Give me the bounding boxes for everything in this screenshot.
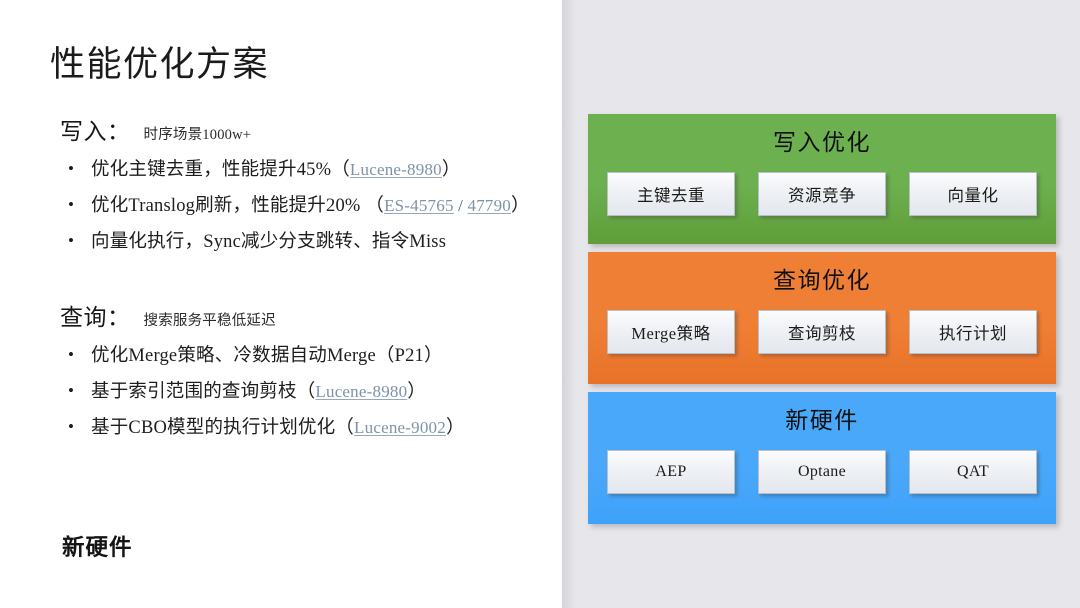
page-title: 性能优化方案 [50,45,269,85]
paren-open: （ [335,418,354,438]
section-subtitle: 搜索服务平稳低延迟 [144,313,276,329]
reference-link[interactable]: ES-45765 [384,196,454,215]
chip-item[interactable]: Optane [758,450,886,494]
bullet-text: 优化Merge策略、冷数据自动Merge（P21） [91,346,443,366]
diagram-panel-write[interactable]: 写入优化 主键去重 资源竞争 向量化 [588,114,1056,244]
section-heading: 写入： 时序场景1000w+ [60,112,560,146]
section-label: 写入： [60,119,131,144]
left-content-column: 性能优化方案 写入： 时序场景1000w+ 优化主键去重，性能提升45%（Luc… [0,0,562,608]
bullet-text: 优化Translog刷新，性能提升20% [91,196,361,216]
bullet-text: 优化主键去重，性能提升45% [91,160,331,180]
chip-item[interactable]: 向量化 [909,172,1037,216]
panel-title: 查询优化 [588,252,1056,293]
chip-item[interactable]: 主键去重 [607,172,735,216]
chip-item[interactable]: 查询剪枝 [758,310,886,354]
section-query: 查询： 搜索服务平稳低延迟 优化Merge策略、冷数据自动Merge（P21） … [60,298,560,446]
paren-open: （ [361,196,385,216]
chip-item[interactable]: 执行计划 [909,310,1037,354]
paren-close: ） [511,196,530,216]
list-item: 基于索引范围的查询剪枝（Lucene-8980） [60,374,560,410]
chip-row: 主键去重 资源竞争 向量化 [588,155,1056,216]
paren-close: ） [442,160,461,180]
paren-close: ） [446,418,465,438]
bullet-text: 基于CBO模型的执行计划优化 [91,418,335,438]
section-heading: 查询： 搜索服务平稳低延迟 [60,298,560,332]
chip-item[interactable]: AEP [607,450,735,494]
list-item: 向量化执行，Sync减少分支跳转、指令Miss [60,224,560,260]
reference-separator: / [454,196,468,215]
list-item: 基于CBO模型的执行计划优化（Lucene-9002） [60,410,560,446]
section-subtitle: 时序场景1000w+ [144,127,252,143]
panel-title: 新硬件 [588,392,1056,433]
slide-canvas: 性能优化方案 写入： 时序场景1000w+ 优化主键去重，性能提升45%（Luc… [0,0,1080,608]
reference-link[interactable]: Lucene-8980 [350,160,442,179]
right-diagram-panel: 写入优化 主键去重 资源竞争 向量化 查询优化 Merge策略 查询剪枝 执行计… [562,0,1080,608]
chip-row: AEP Optane QAT [588,433,1056,494]
chip-item[interactable]: Merge策略 [607,310,735,354]
chip-row: Merge策略 查询剪枝 执行计划 [588,293,1056,354]
bullet-text: 向量化执行，Sync减少分支跳转、指令Miss [91,232,446,252]
section-label: 查询： [60,305,131,330]
list-item: 优化Translog刷新，性能提升20% （ES-45765 / 47790） [60,188,560,224]
diagram-panel-query[interactable]: 查询优化 Merge策略 查询剪枝 执行计划 [588,252,1056,384]
paren-open: （ [331,160,350,180]
paren-close: ） [407,382,426,402]
bullet-list-query: 优化Merge策略、冷数据自动Merge（P21） 基于索引范围的查询剪枝（Lu… [60,338,560,446]
list-item: 优化Merge策略、冷数据自动Merge（P21） [60,338,560,374]
diagram-panel-hardware[interactable]: 新硬件 AEP Optane QAT [588,392,1056,524]
reference-link[interactable]: Lucene-9002 [354,418,446,437]
section-write: 写入： 时序场景1000w+ 优化主键去重，性能提升45%（Lucene-898… [60,112,560,260]
panel-edge-shadow [562,0,576,608]
bullet-list-write: 优化主键去重，性能提升45%（Lucene-8980） 优化Translog刷新… [60,152,560,260]
paren-open: （ [297,382,316,402]
chip-item[interactable]: 资源竞争 [758,172,886,216]
reference-link[interactable]: 47790 [468,196,512,215]
bullet-text: 基于索引范围的查询剪枝 [91,382,297,402]
list-item: 优化主键去重，性能提升45%（Lucene-8980） [60,152,560,188]
panel-title: 写入优化 [588,114,1056,155]
chip-item[interactable]: QAT [909,450,1037,494]
footer-heading: 新硬件 [62,530,133,562]
reference-link[interactable]: Lucene-8980 [315,382,407,401]
